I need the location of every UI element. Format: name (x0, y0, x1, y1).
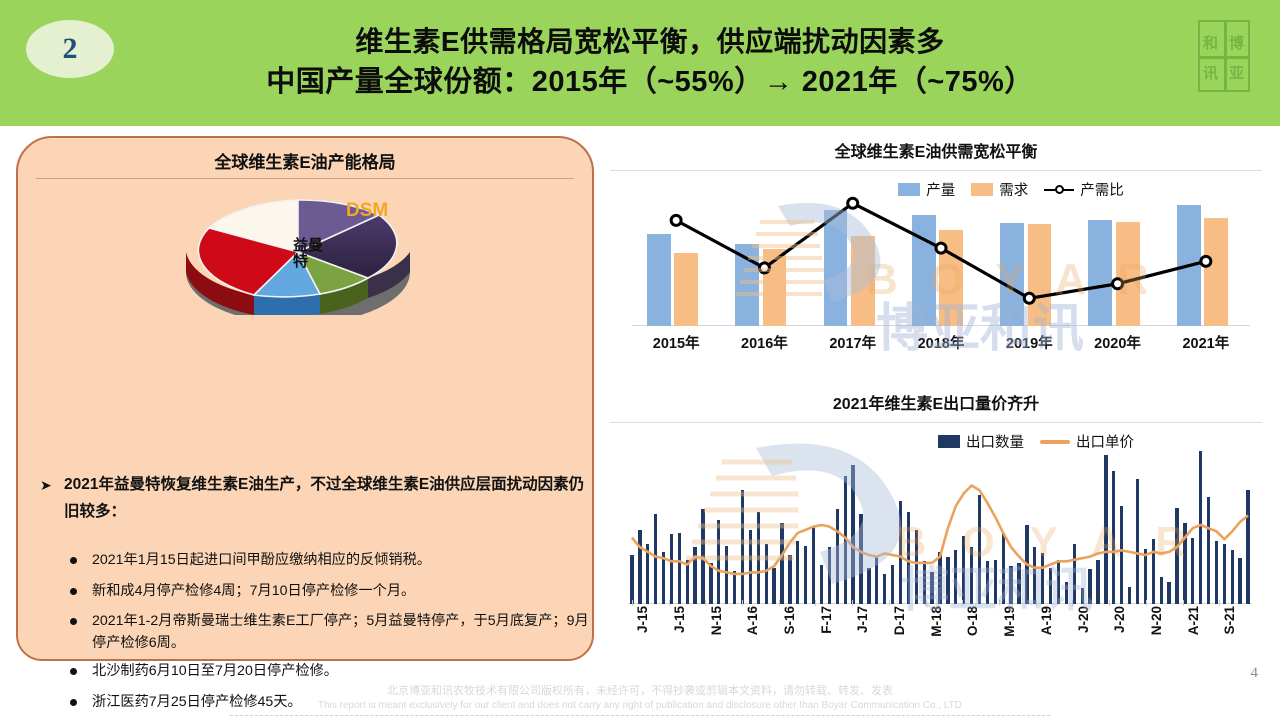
slide-number-badge: 2 (26, 20, 114, 78)
x-axis-tick-label: F-17 (819, 606, 834, 634)
supply-demand-chart-panel: 全球维生素E油供需宽松平衡 产量 需求 产需比 2015年2016年2017年2… (606, 136, 1266, 384)
x-axis-tick-label: A-21 (1186, 606, 1201, 635)
data-point-ratio-2018年 (936, 243, 946, 253)
seal-char-2: 讯 (1203, 66, 1218, 81)
x-axis-tick-label: O-18 (965, 606, 980, 636)
data-point-ratio-2015年 (671, 215, 681, 225)
x-axis-tick-mark (705, 600, 706, 606)
company-seal-icon: 和 博 讯 亚 (1190, 14, 1258, 98)
x-axis-label: 2018年 (897, 332, 985, 353)
footer-divider (230, 715, 1050, 716)
footer-copyright-en: This report is meant exclusively for our… (0, 699, 1280, 713)
seal-char-3: 亚 (1229, 66, 1244, 81)
x-axis-tick-label: J-20 (1076, 606, 1091, 633)
x-axis-tick-mark (1036, 600, 1037, 606)
x-axis-tick-label: A-16 (745, 606, 760, 635)
seal-char-1: 博 (1229, 36, 1244, 51)
x-axis-tick-mark (1146, 600, 1147, 606)
x-axis-tick-mark (962, 600, 963, 606)
x-axis-tick-mark (1072, 600, 1073, 606)
x-axis-tick-label: J-17 (855, 606, 870, 633)
x-axis-tick-mark (926, 600, 927, 606)
page-title-line1: 维生素E供需格局宽松平衡，供应端扰动因素多 (130, 22, 1170, 62)
list-item: 2021年1月15日起进口间甲酚应缴纳相应的反倾销税。 (66, 550, 591, 572)
supply-demand-plot-area (632, 194, 1250, 326)
seal-char-0: 和 (1203, 36, 1218, 51)
page-title: 维生素E供需格局宽松平衡，供应端扰动因素多 中国产量全球份额：2015年（~55… (130, 22, 1170, 103)
list-item: 新和成4月停产检修4周；7月10日停产检修一个月。 (66, 581, 591, 603)
x-axis-tick-mark (889, 600, 890, 606)
export-chart-title: 2021年维生素E出口量价齐升 (606, 388, 1266, 414)
chart-divider (610, 422, 1262, 423)
x-axis-tick-mark (815, 600, 816, 606)
x-axis-tick-label: D-17 (892, 606, 907, 635)
capacity-panel-title: 全球维生素E油产能格局 (18, 148, 592, 173)
x-axis-tick-label: J-15 (635, 606, 650, 633)
x-axis-label: 2015年 (632, 332, 720, 353)
page-number: 4 (1251, 665, 1259, 682)
capacity-panel: 全球维生素E油产能格局 (16, 136, 594, 661)
x-axis-label: 2019年 (985, 332, 1073, 353)
x-axis-label: 2020年 (1073, 332, 1161, 353)
x-axis-tick-mark (742, 600, 743, 606)
key-point-text: 2021年益曼特恢复维生素E油生产，不过全球维生素E油供应层面扰动因素仍旧较多： (40, 472, 592, 525)
supply-demand-x-axis-labels: 2015年2016年2017年2018年2019年2020年2021年 (632, 332, 1250, 356)
data-point-ratio-2021年 (1201, 256, 1211, 266)
x-axis-tick-label: J-15 (672, 606, 687, 633)
footer-copyright-cn: 北京博亚和讯农牧技术有限公司版权所有，未经许可，不得抄袭或剪辑本文资料，请勿转载… (0, 684, 1280, 699)
x-axis-label: 2017年 (809, 332, 897, 353)
list-item: 2021年1-2月帝斯曼瑞士维生素E工厂停产；5月益曼特停产，于5月底复产；9月… (66, 611, 591, 654)
x-axis-tick-mark (1109, 600, 1110, 606)
x-axis-tick-label: S-21 (1222, 606, 1237, 635)
x-axis-tick-mark (669, 600, 670, 606)
x-axis-tick-label: M-19 (1002, 606, 1017, 637)
x-axis-label: 2016年 (720, 332, 808, 353)
x-axis-tick-label: M-18 (929, 606, 944, 637)
export-price-line-series (628, 446, 1252, 604)
ratio-line-series (632, 194, 1250, 326)
footer: 北京博亚和讯农牧技术有限公司版权所有，未经许可，不得抄袭或剪辑本文资料，请勿转载… (0, 684, 1280, 712)
list-item: 北沙制药6月10日至7月20日停产检修。 (66, 661, 591, 683)
key-point: ➤ 2021年益曼特恢复维生素E油生产，不过全球维生素E油供应层面扰动因素仍旧较… (40, 472, 592, 525)
capacity-pie-chart: DSM 益曼特 (168, 190, 428, 315)
x-axis-tick-mark (1183, 600, 1184, 606)
x-axis-tick-mark (779, 600, 780, 606)
export-x-axis-labels: J-15J-15N-15A-16S-16F-17J-17D-17M-18O-18… (628, 606, 1252, 658)
pie-chart-svg (168, 190, 428, 315)
x-axis-tick-label: N-15 (709, 606, 724, 635)
x-axis-tick-label: J-20 (1112, 606, 1127, 633)
slide-root: 2 维生素E供需格局宽松平衡，供应端扰动因素多 中国产量全球份额：2015年（~… (0, 0, 1280, 720)
data-point-ratio-2016年 (759, 263, 769, 273)
data-point-ratio-2020年 (1113, 279, 1123, 289)
panel-divider (36, 178, 574, 179)
x-axis-tick-mark (632, 600, 633, 606)
page-title-line2: 中国产量全球份额：2015年（~55%）→ 2021年（~75%） (130, 62, 1170, 103)
data-point-ratio-2019年 (1024, 293, 1034, 303)
x-axis-tick-mark (1219, 600, 1220, 606)
x-axis-tick-mark (852, 600, 853, 606)
slide-header: 2 维生素E供需格局宽松平衡，供应端扰动因素多 中国产量全球份额：2015年（~… (0, 0, 1280, 126)
chart-divider (610, 170, 1262, 171)
x-axis-tick-label: N-20 (1149, 606, 1164, 635)
arrow-bullet-icon: ➤ (40, 473, 52, 497)
export-plot-area (628, 446, 1252, 604)
x-axis-tick-mark (999, 600, 1000, 606)
export-chart-panel: 2021年维生素E出口量价齐升 出口数量 出口单价 J-15J-15N-15A-… (606, 388, 1266, 660)
supply-demand-chart-title: 全球维生素E油供需宽松平衡 (606, 136, 1266, 162)
x-axis-tick-label: S-16 (782, 606, 797, 635)
legend-swatch-export-price-icon (1040, 440, 1070, 444)
data-point-ratio-2017年 (848, 198, 858, 208)
x-axis-tick-label: A-19 (1039, 606, 1054, 635)
x-axis-label: 2021年 (1162, 332, 1250, 353)
